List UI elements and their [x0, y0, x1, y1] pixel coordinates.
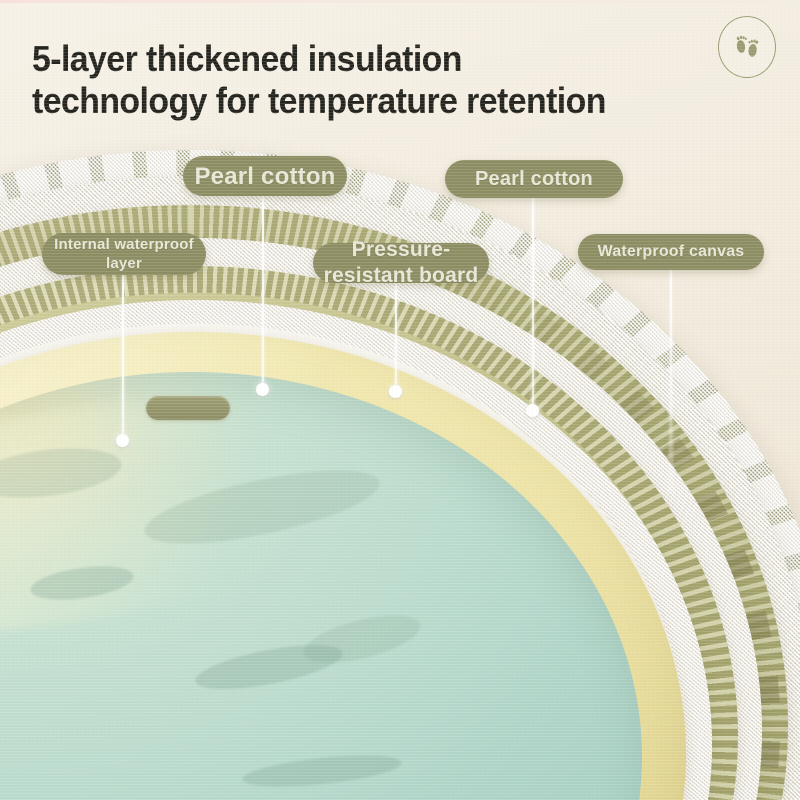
infographic-canvas: Internal waterproof layer Pearl cotton P…	[0, 0, 800, 800]
headline-line-2: technology for temperature retention	[32, 80, 690, 122]
water-ripple	[241, 750, 403, 793]
callout-label-pearl-cotton-right: Pearl cotton	[445, 160, 623, 198]
drain-plug-capsule	[146, 396, 230, 420]
callout-label-text: Pressure-resistant board	[313, 237, 489, 289]
headline: 5-layer thickened insulation technology …	[32, 38, 732, 122]
footprints-badge	[718, 16, 776, 78]
callout-label-text: Waterproof canvas	[598, 239, 745, 265]
callout-label-pearl-cotton-left: Pearl cotton	[183, 156, 347, 196]
headline-line-1: 5-layer thickened insulation	[32, 38, 462, 79]
callout-label-pressure-resistant-board: Pressure-resistant board	[313, 243, 489, 283]
callout-label-text: Pearl cotton	[183, 162, 347, 191]
callout-label-text: Pearl cotton	[475, 166, 593, 192]
callout-label-text: Internal waterproof layer	[42, 235, 206, 273]
callout-label-internal-waterproof-layer: Internal waterproof layer	[42, 233, 206, 275]
top-edge-accent	[0, 0, 800, 3]
callout-label-waterproof-canvas: Waterproof canvas	[578, 234, 764, 270]
headline-text: 5-layer thickened insulation technology …	[32, 38, 690, 122]
footprints-icon	[730, 30, 764, 64]
water-ripple	[192, 636, 346, 698]
